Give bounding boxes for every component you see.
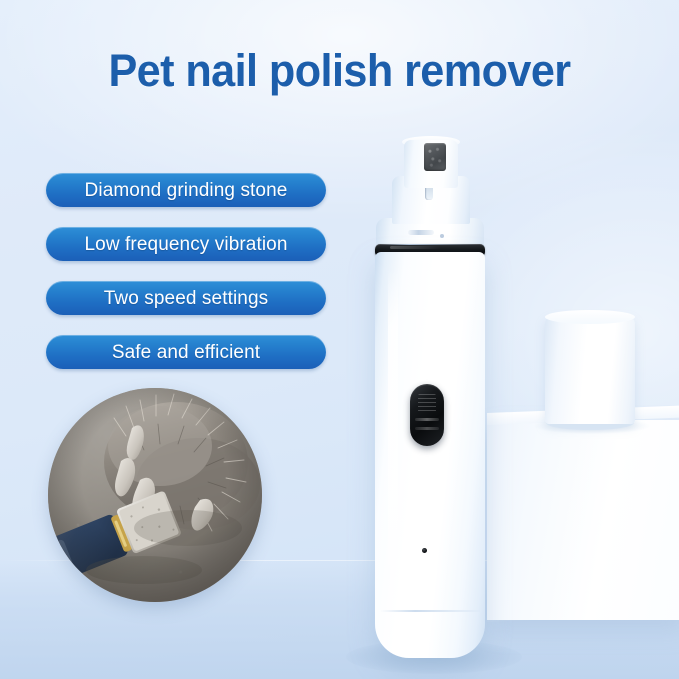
feature-pill-two-speed-settings: Two speed settings	[46, 281, 326, 315]
feature-pill-low-frequency-vibration: Low frequency vibration	[46, 227, 326, 261]
spare-cap-cylinder	[545, 316, 635, 424]
switch-ridges	[418, 394, 436, 412]
shoulder-pin-dot	[440, 234, 444, 238]
body-highlight	[388, 268, 398, 598]
paw-closeup-inset-photo	[48, 388, 262, 602]
switch-groove-upper	[415, 418, 439, 421]
feature-pill-label: Two speed settings	[104, 289, 268, 308]
led-indicator	[422, 548, 427, 553]
feature-pill-label: Diamond grinding stone	[85, 181, 288, 200]
switch-groove-lower	[415, 427, 439, 430]
display-pedestal	[487, 420, 679, 620]
product-poster: Pet nail polish remover Diamond grinding…	[0, 0, 679, 679]
feature-pill-list: Diamond grinding stone Low frequency vib…	[46, 173, 326, 369]
pet-nail-grinder-device	[368, 132, 492, 666]
feature-pill-label: Low frequency vibration	[85, 235, 288, 254]
body-base-seam	[380, 610, 480, 612]
spare-cap-top	[545, 310, 635, 324]
power-switch[interactable]	[410, 384, 444, 446]
grinding-stone-window	[424, 143, 446, 171]
body-top-seam	[378, 244, 482, 245]
page-title: Pet nail polish remover	[14, 44, 666, 98]
paw-and-grinder-illustration	[48, 388, 262, 602]
feature-pill-safe-and-efficient: Safe and efficient	[46, 335, 326, 369]
feature-pill-diamond-grinding-stone: Diamond grinding stone	[46, 173, 326, 207]
shoulder-notch	[408, 230, 434, 235]
feature-pill-label: Safe and efficient	[112, 343, 260, 362]
